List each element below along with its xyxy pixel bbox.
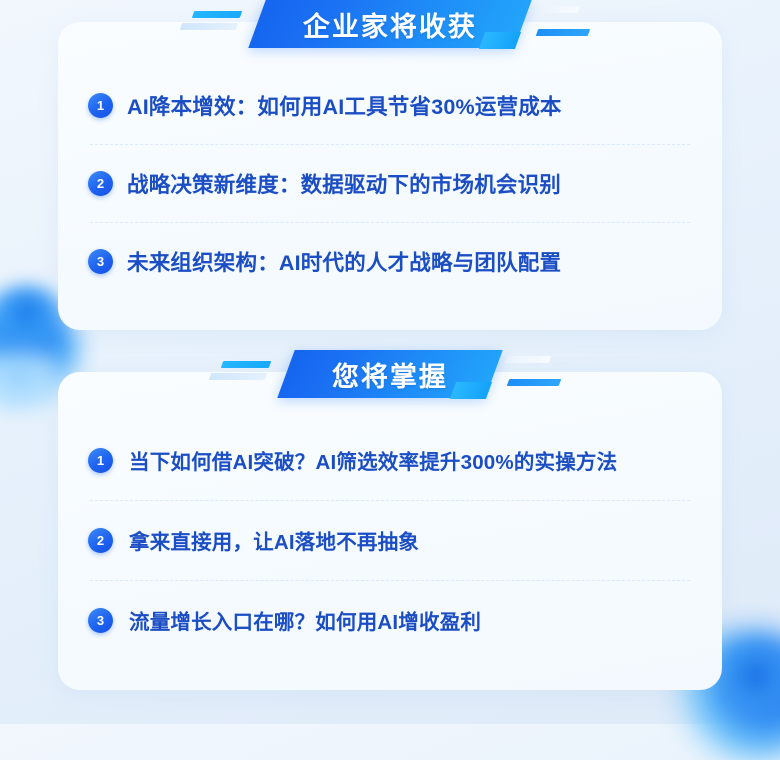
mastery-list: 1 当下如何借AI突破？AI筛选效率提升300%的实操方法 2 拿来直接用，让A… bbox=[58, 420, 722, 660]
list-item-number-badge: 2 bbox=[88, 528, 113, 553]
list-item-number-badge: 1 bbox=[88, 93, 113, 118]
list-item[interactable]: 3 未来组织架构：AI时代的人才战略与团队配置 bbox=[88, 222, 692, 300]
benefit-list: 1 AI降本增效：如何用AI工具节省30%运营成本 2 战略决策新维度：数据驱动… bbox=[58, 66, 722, 300]
section-banner-entrepreneur-gains: 企业家将收获 bbox=[58, 0, 722, 48]
decorative-blob-left-small bbox=[0, 286, 64, 348]
banner-dash-right-top-icon bbox=[505, 356, 552, 363]
banner-dash-left-bottom-icon bbox=[180, 23, 239, 30]
list-item-number-badge: 1 bbox=[88, 448, 113, 473]
banner-dash-left-top-icon bbox=[192, 11, 243, 18]
list-item-label: 战略决策新维度：数据驱动下的市场机会识别 bbox=[127, 168, 561, 199]
section-card-entrepreneur-gains: 企业家将收获 1 AI降本增效：如何用AI工具节省30%运营成本 2 战略决策新… bbox=[58, 22, 722, 330]
banner-dash-right-bottom-icon bbox=[507, 379, 562, 386]
list-item-label: AI降本增效：如何用AI工具节省30%运营成本 bbox=[127, 90, 562, 121]
list-item-number-badge: 3 bbox=[88, 608, 113, 633]
section-title: 企业家将收获 bbox=[303, 5, 477, 44]
banner-dash-left-bottom-icon bbox=[209, 373, 268, 380]
banner-dash-left-top-icon bbox=[221, 361, 272, 368]
decorative-blob-right-small bbox=[716, 644, 780, 714]
section-banner-you-will-master: 您将掌握 bbox=[58, 350, 722, 398]
list-item[interactable]: 2 拿来直接用，让AI落地不再抽象 bbox=[88, 500, 692, 580]
list-item[interactable]: 1 当下如何借AI突破？AI筛选效率提升300%的实操方法 bbox=[88, 420, 692, 500]
list-item-label: 拿来直接用，让AI落地不再抽象 bbox=[129, 525, 419, 555]
list-item-label: 未来组织架构：AI时代的人才战略与团队配置 bbox=[127, 246, 561, 277]
list-item[interactable]: 3 流量增长入口在哪？如何用AI增收盈利 bbox=[88, 580, 692, 660]
section-card-you-will-master: 您将掌握 1 当下如何借AI突破？AI筛选效率提升300%的实操方法 2 拿来直… bbox=[58, 372, 722, 690]
list-item-label: 流量增长入口在哪？如何用AI增收盈利 bbox=[129, 605, 481, 635]
list-item-label: 当下如何借AI突破？AI筛选效率提升300%的实操方法 bbox=[129, 445, 617, 475]
list-item[interactable]: 1 AI降本增效：如何用AI工具节省30%运营成本 bbox=[88, 66, 692, 144]
list-item-number-badge: 3 bbox=[88, 249, 113, 274]
banner-dash-right-bottom-icon bbox=[536, 29, 591, 36]
list-item-number-badge: 2 bbox=[88, 171, 113, 196]
list-item[interactable]: 2 战略决策新维度：数据驱动下的市场机会识别 bbox=[88, 144, 692, 222]
banner-shape: 您将掌握 bbox=[277, 350, 502, 398]
banner-shape: 企业家将收获 bbox=[248, 0, 531, 48]
section-title: 您将掌握 bbox=[332, 355, 448, 394]
banner-dash-right-top-icon bbox=[534, 6, 581, 13]
